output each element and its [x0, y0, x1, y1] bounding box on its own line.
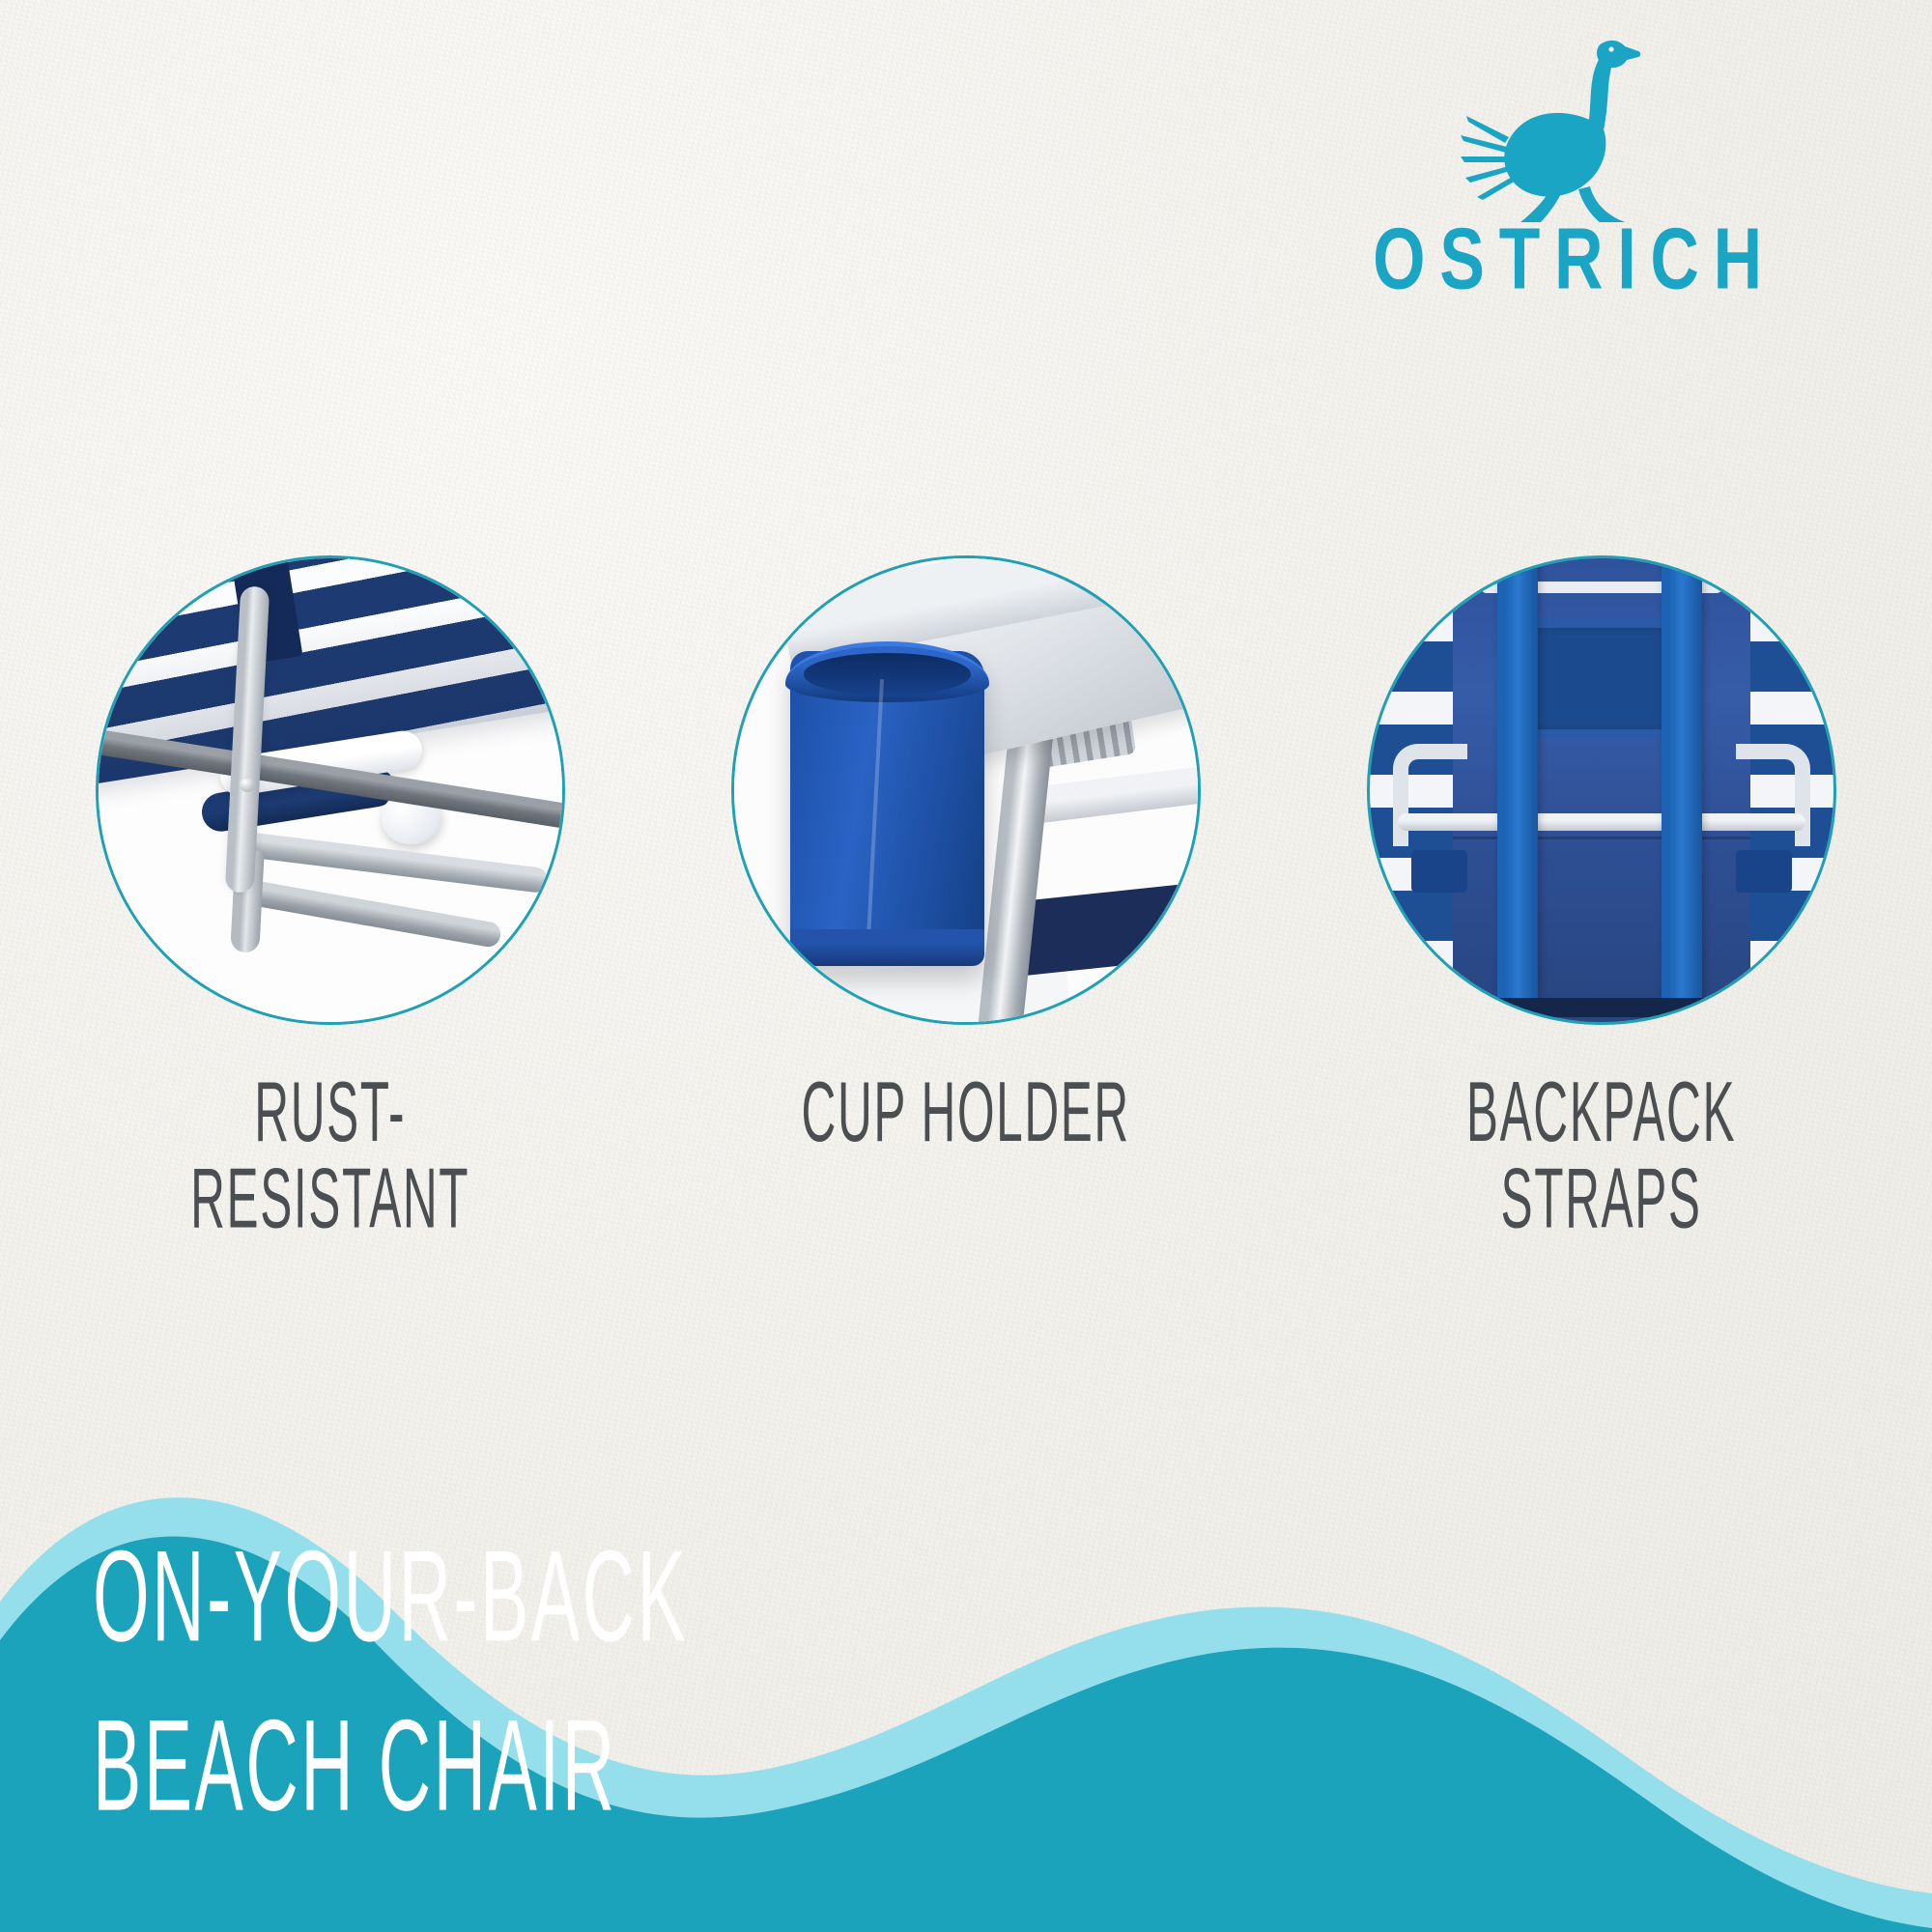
- feature-label-backpack-straps: BACKPACK STRAPS: [1466, 1069, 1736, 1243]
- feature-label-cup-holder: CUP HOLDER: [802, 1069, 1130, 1156]
- wave-banner: ON-YOUR-BACK BEACH CHAIR: [0, 1478, 1932, 1932]
- brand-logo: OSTRICH: [1333, 29, 1816, 290]
- photo-cup-holder: [734, 558, 1198, 1022]
- feature-item-rust-resistant: RUST- RESISTANT: [96, 555, 565, 1191]
- feature-item-cup-holder: CUP HOLDER: [731, 555, 1201, 1130]
- brand-wordmark: OSTRICH: [1352, 216, 1797, 303]
- banner-headline: ON-YOUR-BACK BEACH CHAIR: [93, 1514, 688, 1851]
- photo-aluminum-frame: [99, 558, 562, 1022]
- photo-backpack-straps: [1370, 558, 1833, 1022]
- feature-row: RUST- RESISTANT CUP HOLDER: [0, 555, 1932, 1191]
- feature-circle-cup-holder: [731, 555, 1201, 1025]
- feature-circle-backpack-straps: [1367, 555, 1836, 1025]
- feature-item-backpack-straps: BACKPACK STRAPS: [1367, 555, 1836, 1191]
- ostrich-bird-icon: [1459, 29, 1690, 222]
- feature-circle-rust-resistant: [96, 555, 565, 1025]
- feature-label-rust-resistant: RUST- RESISTANT: [190, 1069, 469, 1243]
